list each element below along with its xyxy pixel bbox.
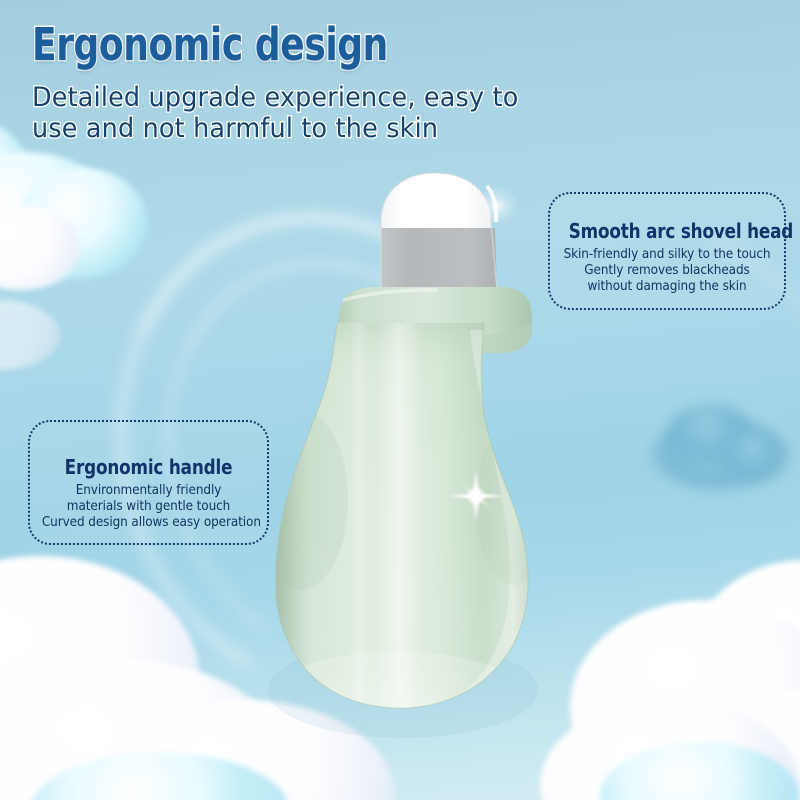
callout-shovel-head-line-3: without damaging the skin	[562, 279, 773, 295]
callout-ergonomic-handle-line-2: materials with gentle touch	[42, 499, 255, 515]
callout-shovel-head-title: Smooth arc shovel head	[569, 220, 766, 242]
cloud-right-blue-c	[722, 430, 788, 482]
callout-ergonomic-handle-line-3: Curved design allows easy operation	[42, 515, 255, 531]
callout-ergonomic-handle-title: Ergonomic handle	[49, 456, 248, 478]
callout-shovel-head-line-2: Gently removes blackheads	[562, 263, 773, 279]
callout-ergonomic-handle-line-1: Environmentally friendly	[42, 483, 255, 499]
callout-ergonomic-handle[interactable]: Ergonomic handle Environmentally friendl…	[28, 420, 269, 545]
page-subtitle-line-2: use and not harmful to the skin	[32, 113, 570, 144]
callout-shovel-head-line-1: Skin-friendly and silky to the touch	[562, 247, 773, 263]
cloud-mid-left-wisp	[0, 300, 60, 370]
page-subtitle: Detailed upgrade experience, easy to use…	[32, 82, 570, 145]
headline-block: Ergonomic design Detailed upgrade experi…	[32, 22, 592, 144]
callout-shovel-head-body: Skin-friendly and silky to the touch Gen…	[562, 247, 773, 295]
product-feature-banner: Ergonomic design Detailed upgrade experi…	[0, 0, 800, 800]
page-subtitle-line-1: Detailed upgrade experience, easy to	[32, 82, 570, 113]
callout-ergonomic-handle-body: Environmentally friendly materials with …	[42, 483, 255, 531]
callout-shovel-head[interactable]: Smooth arc shovel head Skin-friendly and…	[548, 192, 786, 310]
page-title: Ergonomic design	[32, 22, 480, 69]
